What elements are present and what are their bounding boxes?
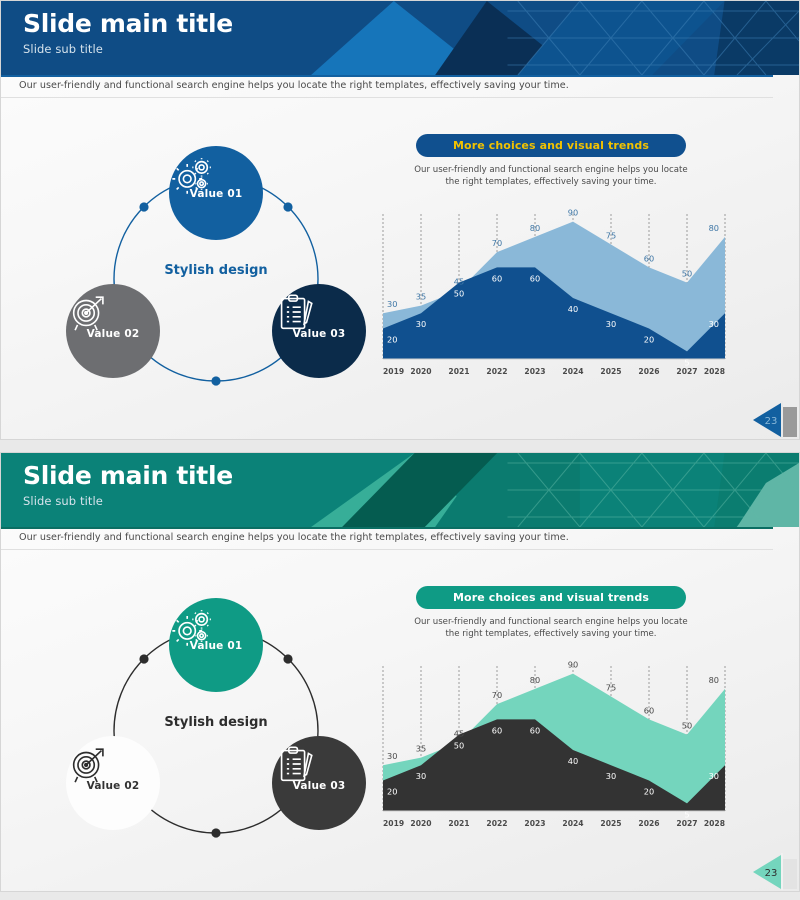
- chart-value-label: 30: [416, 771, 426, 781]
- trends-panel: More choices and visual trends Our user-…: [371, 586, 731, 641]
- area-chart[interactable]: 3035457080907560508020305060604030205302…: [371, 656, 731, 836]
- chart-value-label: 60: [530, 273, 540, 283]
- chart-value-label: 35: [416, 744, 426, 754]
- trends-panel: More choices and visual trends Our user-…: [371, 134, 731, 189]
- badge-triangle-icon: 23: [739, 399, 799, 439]
- chart-x-tick-label: 2024: [562, 367, 583, 376]
- gears-icon: [169, 156, 215, 196]
- chart-x-tick-label: 2019: [383, 819, 404, 828]
- chart-value-label: 40: [568, 756, 578, 766]
- slide-teal[interactable]: Slide main title Slide sub title Our use…: [0, 452, 800, 892]
- chart-value-label: 50: [682, 721, 692, 731]
- chart-x-tick-label: 2020: [410, 367, 431, 376]
- slide-blue[interactable]: Slide main title Slide sub title Our use…: [0, 0, 800, 440]
- chart-x-tick-label: 2021: [448, 819, 469, 828]
- target-arrow-icon: [66, 292, 112, 332]
- chart-value-label: 60: [492, 273, 502, 283]
- chart-value-label: 60: [644, 705, 654, 715]
- page-number-badge: 23: [739, 399, 799, 439]
- chart-x-tick-label: 2026: [638, 367, 659, 376]
- chart-value-label: 5: [684, 809, 689, 819]
- trends-pill-subtext: Our user-friendly and functional search …: [406, 164, 696, 189]
- chart-value-label: 60: [492, 725, 502, 735]
- chart-x-tick-label: 2019: [383, 367, 404, 376]
- chart-value-label: 70: [492, 238, 502, 248]
- chart-value-label: 35: [416, 292, 426, 302]
- chart-x-tick-label: 2028: [704, 367, 725, 376]
- chart-value-label: 45: [454, 276, 464, 286]
- trends-pill-label[interactable]: More choices and visual trends: [416, 586, 686, 609]
- chart-value-label: 20: [387, 786, 397, 796]
- gears-icon: [169, 608, 215, 648]
- page-number-badge: 23: [739, 851, 799, 891]
- diagram-center-label: Stylish design: [160, 263, 272, 279]
- clipboard-checklist-icon: [272, 292, 318, 332]
- page-subtitle: Slide sub title: [23, 42, 233, 56]
- intro-text: Our user-friendly and functional search …: [19, 532, 759, 543]
- chart-value-label: 90: [568, 208, 578, 218]
- chart-x-tick-label: 2023: [524, 367, 545, 376]
- chart-value-label: 20: [387, 334, 397, 344]
- chart-x-tick-label: 2023: [524, 819, 545, 828]
- intro-divider: [1, 97, 773, 98]
- value-node-02[interactable]: Value 02: [66, 284, 160, 378]
- chart-value-label: 5: [684, 357, 689, 367]
- chart-canvas: 3035457080907560508020305060604030205302…: [371, 204, 731, 384]
- chart-value-label: 45: [454, 728, 464, 738]
- chart-value-label: 30: [387, 299, 397, 309]
- chart-value-label: 75: [606, 683, 616, 693]
- slide-header: Slide main title Slide sub title: [1, 1, 799, 75]
- chart-x-tick-label: 2025: [600, 367, 621, 376]
- chart-x-tick-label: 2027: [676, 367, 697, 376]
- chart-x-tick-label: 2025: [600, 819, 621, 828]
- page-number: 23: [765, 868, 778, 879]
- chart-x-tick-label: 2022: [486, 367, 507, 376]
- chart-x-tick-label: 2020: [410, 819, 431, 828]
- chart-x-tick-label: 2028: [704, 819, 725, 828]
- chart-value-label: 30: [709, 319, 719, 329]
- trends-pill-label[interactable]: More choices and visual trends: [416, 134, 686, 157]
- chart-value-label: 30: [709, 771, 719, 781]
- chart-x-tick-label: 2027: [676, 819, 697, 828]
- target-arrow-icon: [66, 744, 112, 784]
- header-rule: [1, 75, 773, 77]
- badge-triangle-icon: 23: [739, 851, 799, 891]
- chart-value-label: 20: [644, 786, 654, 796]
- chart-x-tick-label: 2026: [638, 819, 659, 828]
- chart-x-tick-label: 2024: [562, 819, 583, 828]
- value-node-01[interactable]: Value 01: [169, 146, 263, 240]
- chart-value-label: 30: [606, 771, 616, 781]
- chart-value-label: 60: [644, 253, 654, 263]
- page-number: 23: [765, 416, 778, 427]
- intro-divider: [1, 549, 773, 550]
- chart-canvas: 3035457080907560508020305060604030205302…: [371, 656, 731, 836]
- chart-value-label: 80: [709, 675, 719, 685]
- trends-pill-subtext: Our user-friendly and functional search …: [406, 616, 696, 641]
- page-subtitle: Slide sub title: [23, 494, 233, 508]
- page-title: Slide main title: [23, 10, 233, 38]
- chart-value-label: 75: [606, 231, 616, 241]
- chart-x-tick-label: 2021: [448, 367, 469, 376]
- value-node-03[interactable]: Value 03: [272, 284, 366, 378]
- chart-value-label: 20: [644, 334, 654, 344]
- value-circle-diagram: Value 01 Value 02: [66, 146, 366, 396]
- value-circle-diagram: Value 01 Value 02: [66, 598, 366, 848]
- chart-value-label: 40: [568, 304, 578, 314]
- chart-x-tick-label: 2022: [486, 819, 507, 828]
- chart-value-label: 90: [568, 660, 578, 670]
- chart-value-label: 30: [387, 751, 397, 761]
- chart-value-label: 50: [454, 289, 464, 299]
- slide-header: Slide main title Slide sub title: [1, 453, 799, 527]
- chart-value-label: 80: [530, 223, 540, 233]
- chart-value-label: 60: [530, 725, 540, 735]
- chart-value-label: 50: [454, 741, 464, 751]
- diagram-center-label: Stylish design: [160, 715, 272, 731]
- page-title: Slide main title: [23, 462, 233, 490]
- value-node-03[interactable]: Value 03: [272, 736, 366, 830]
- intro-text: Our user-friendly and functional search …: [19, 80, 759, 91]
- clipboard-checklist-icon: [272, 744, 318, 784]
- chart-value-label: 80: [709, 223, 719, 233]
- chart-value-label: 80: [530, 675, 540, 685]
- chart-value-label: 50: [682, 269, 692, 279]
- slide-deck: Slide main title Slide sub title Our use…: [0, 0, 800, 900]
- chart-value-label: 30: [606, 319, 616, 329]
- header-rule: [1, 527, 773, 529]
- area-chart[interactable]: 3035457080907560508020305060604030205302…: [371, 204, 731, 384]
- value-node-01[interactable]: Value 01: [169, 598, 263, 692]
- chart-value-label: 30: [416, 319, 426, 329]
- value-node-02[interactable]: Value 02: [66, 736, 160, 830]
- chart-value-label: 70: [492, 690, 502, 700]
